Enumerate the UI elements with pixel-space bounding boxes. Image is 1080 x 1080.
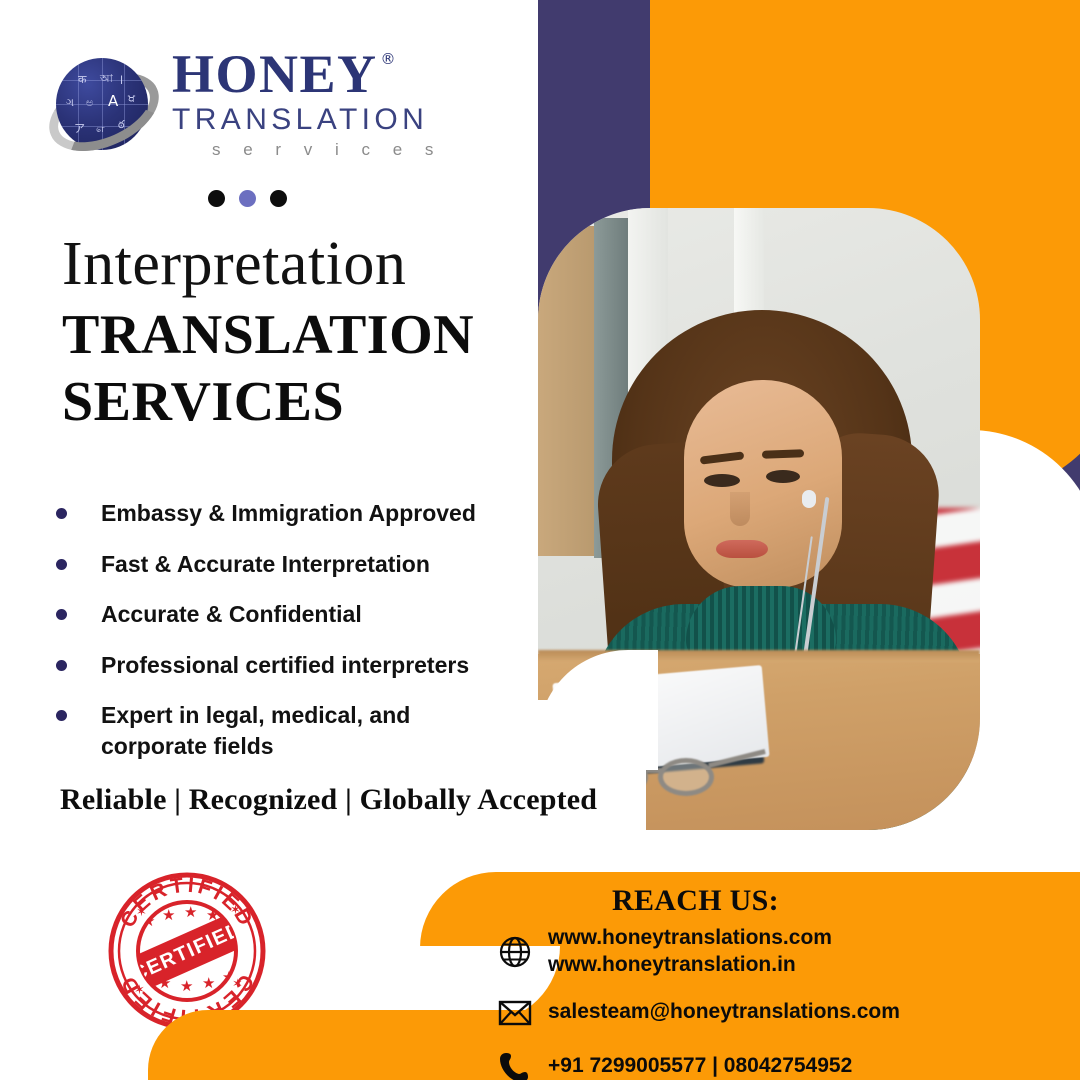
- slide-dots: [208, 190, 287, 207]
- contact-phone[interactable]: +91 7299005577 | 08042754952: [548, 1053, 852, 1080]
- headline-script-line: Interpretation: [62, 232, 532, 296]
- bullet-marker: [56, 508, 67, 519]
- list-item-label: Fast & Accurate Interpretation: [101, 549, 430, 580]
- photo-person-nose: [730, 492, 750, 526]
- globe-icon: [492, 932, 538, 972]
- slide-dot-2: [239, 190, 256, 207]
- svg-text:✶: ✶: [232, 976, 243, 991]
- bullet-marker: [56, 609, 67, 620]
- svg-text:✶: ✶: [134, 982, 145, 997]
- headline-main-line-2: SERVICES: [62, 369, 532, 435]
- slide-dot-3: [270, 190, 287, 207]
- photo-earphone-bud: [802, 490, 816, 508]
- photo-person-eye-left: [704, 474, 740, 487]
- brand-name-row: HONEY ®: [172, 48, 442, 101]
- certified-stamp: CERTIFIED CERTIFIED CERTIFIED ★★ ★★ ★★ ★…: [106, 870, 268, 1032]
- contact-phone-lines: +91 7299005577 | 08042754952: [548, 1053, 852, 1080]
- contact-website-1[interactable]: www.honeytranslations.com: [548, 925, 832, 952]
- contact-website-lines: www.honeytranslations.com www.honeytrans…: [548, 925, 832, 979]
- footer-title: REACH US:: [612, 884, 779, 918]
- feature-list: Embassy & Immigration Approved Fast & Ac…: [56, 498, 526, 781]
- photo-person-lips: [716, 540, 768, 558]
- brand-subtitle: TRANSLATION: [172, 102, 442, 137]
- svg-text:✶: ✶: [230, 902, 241, 917]
- svg-text:★: ★: [206, 907, 219, 924]
- contact-row-phone[interactable]: +91 7299005577 | 08042754952: [492, 1047, 1052, 1080]
- contact-website-2[interactable]: www.honeytranslation.in: [548, 952, 832, 979]
- list-item: Expert in legal, medical, and corporate …: [56, 700, 526, 761]
- bullet-marker: [56, 710, 67, 721]
- bullet-marker: [56, 559, 67, 570]
- svg-text:★: ★: [180, 978, 193, 995]
- svg-text:✶: ✶: [136, 904, 147, 919]
- svg-text:★: ★: [184, 904, 197, 921]
- registered-mark: ®: [381, 50, 396, 68]
- certified-stamp-graphic: CERTIFIED CERTIFIED CERTIFIED ★★ ★★ ★★ ★…: [106, 870, 268, 1032]
- headline-main-block: TRANSLATION SERVICES: [62, 302, 532, 434]
- photo-eyeglasses-temple: [708, 749, 765, 768]
- list-item: Embassy & Immigration Approved: [56, 498, 526, 529]
- slide-dot-1: [208, 190, 225, 207]
- photo-eyeglasses-lens-right: [658, 758, 714, 796]
- brand-tertiary-line: s e r v i c e s: [212, 140, 442, 160]
- list-item: Fast & Accurate Interpretation: [56, 549, 526, 580]
- headline-block: Interpretation TRANSLATION SERVICES: [62, 232, 532, 435]
- list-item: Accurate & Confidential: [56, 599, 526, 630]
- contact-row-email[interactable]: salesteam@honeytranslations.com: [492, 993, 1052, 1033]
- brand-logo-wordmark: HONEY ® TRANSLATION s e r v i c e s: [172, 48, 442, 161]
- contact-list: www.honeytranslations.com www.honeytrans…: [492, 925, 1052, 1080]
- poster-canvas: क আ ا ગ ಅ A ਖ ア எ ఠ HONEY ® TRANSLATION …: [0, 0, 1080, 1080]
- photo-person-brow-right: [762, 449, 804, 458]
- envelope-icon: [492, 993, 538, 1033]
- bullet-marker: [56, 660, 67, 671]
- svg-text:★: ★: [162, 907, 175, 924]
- svg-text:★: ★: [202, 975, 215, 992]
- tagline: Reliable | Recognized | Globally Accepte…: [60, 783, 597, 817]
- globe-languages-icon: क আ ا ગ ಅ A ਖ ア எ ఠ: [50, 50, 158, 158]
- list-item-label: Embassy & Immigration Approved: [101, 498, 476, 529]
- contact-row-website[interactable]: www.honeytranslations.com www.honeytrans…: [492, 925, 1052, 979]
- headline-main-line-1: TRANSLATION: [62, 302, 532, 368]
- phone-icon: [492, 1047, 538, 1080]
- list-item-label: Accurate & Confidential: [101, 599, 362, 630]
- photo-person-eye-right: [766, 470, 800, 483]
- list-item: Professional certified interpreters: [56, 650, 526, 681]
- svg-text:★: ★: [158, 975, 171, 992]
- contact-email[interactable]: salesteam@honeytranslations.com: [548, 999, 900, 1026]
- list-item-label: Expert in legal, medical, and corporate …: [101, 700, 471, 761]
- photo-shelf-books: [538, 226, 594, 556]
- list-item-label: Professional certified interpreters: [101, 650, 469, 681]
- brand-logo: क আ ا ગ ಅ A ਖ ア எ ఠ HONEY ® TRANSLATION …: [50, 48, 442, 161]
- brand-name: HONEY: [172, 48, 378, 101]
- contact-email-lines: salesteam@honeytranslations.com: [548, 999, 900, 1026]
